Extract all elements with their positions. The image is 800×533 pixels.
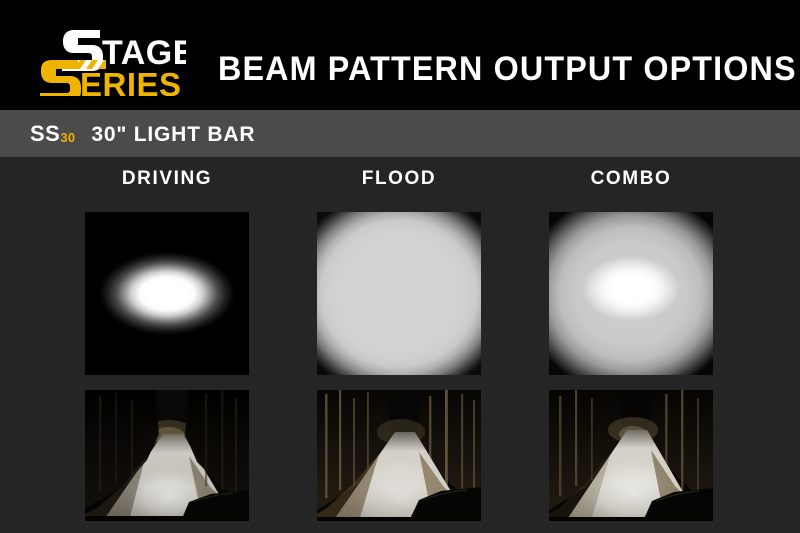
driving-road-photo (85, 390, 249, 521)
combo-road-photo-svg (549, 390, 713, 521)
column-header-driving: DRIVING (85, 168, 249, 190)
product-size-label: 30" LIGHT BAR (91, 123, 255, 147)
ss-model-badge-subscript: 30 (60, 130, 75, 145)
driving-road-photo-svg (85, 390, 249, 521)
subtitle-bar: SS30 30" LIGHT BAR (0, 110, 800, 157)
stage-series-logo: TAGE ERIES (26, 22, 186, 96)
header-band: TAGE ERIES BEAM PATTERN OUTPUT OPTIONS (0, 0, 800, 110)
ss-model-badge: SS (30, 121, 60, 147)
beam-pattern-output-options-page: TAGE ERIES BEAM PATTERN OUTPUT OPTIONS (0, 0, 800, 533)
flood-beam-pattern (317, 212, 481, 375)
svg-text:ERIES: ERIES (80, 66, 182, 96)
stage-series-logo-svg: TAGE ERIES (26, 22, 186, 96)
combo-road-photo (549, 390, 713, 521)
comparison-grid: DRIVING (0, 157, 800, 533)
flood-road-photo (317, 390, 481, 521)
combo-beam-pattern (549, 212, 713, 375)
column-header-combo: COMBO (549, 168, 713, 190)
flood-road-photo-svg (317, 390, 481, 521)
page-title: BEAM PATTERN OUTPUT OPTIONS (218, 52, 797, 86)
subtitle-bar-content: SS30 30" LIGHT BAR (30, 121, 255, 147)
driving-beam-pattern (85, 212, 249, 375)
column-header-flood: FLOOD (317, 168, 481, 190)
